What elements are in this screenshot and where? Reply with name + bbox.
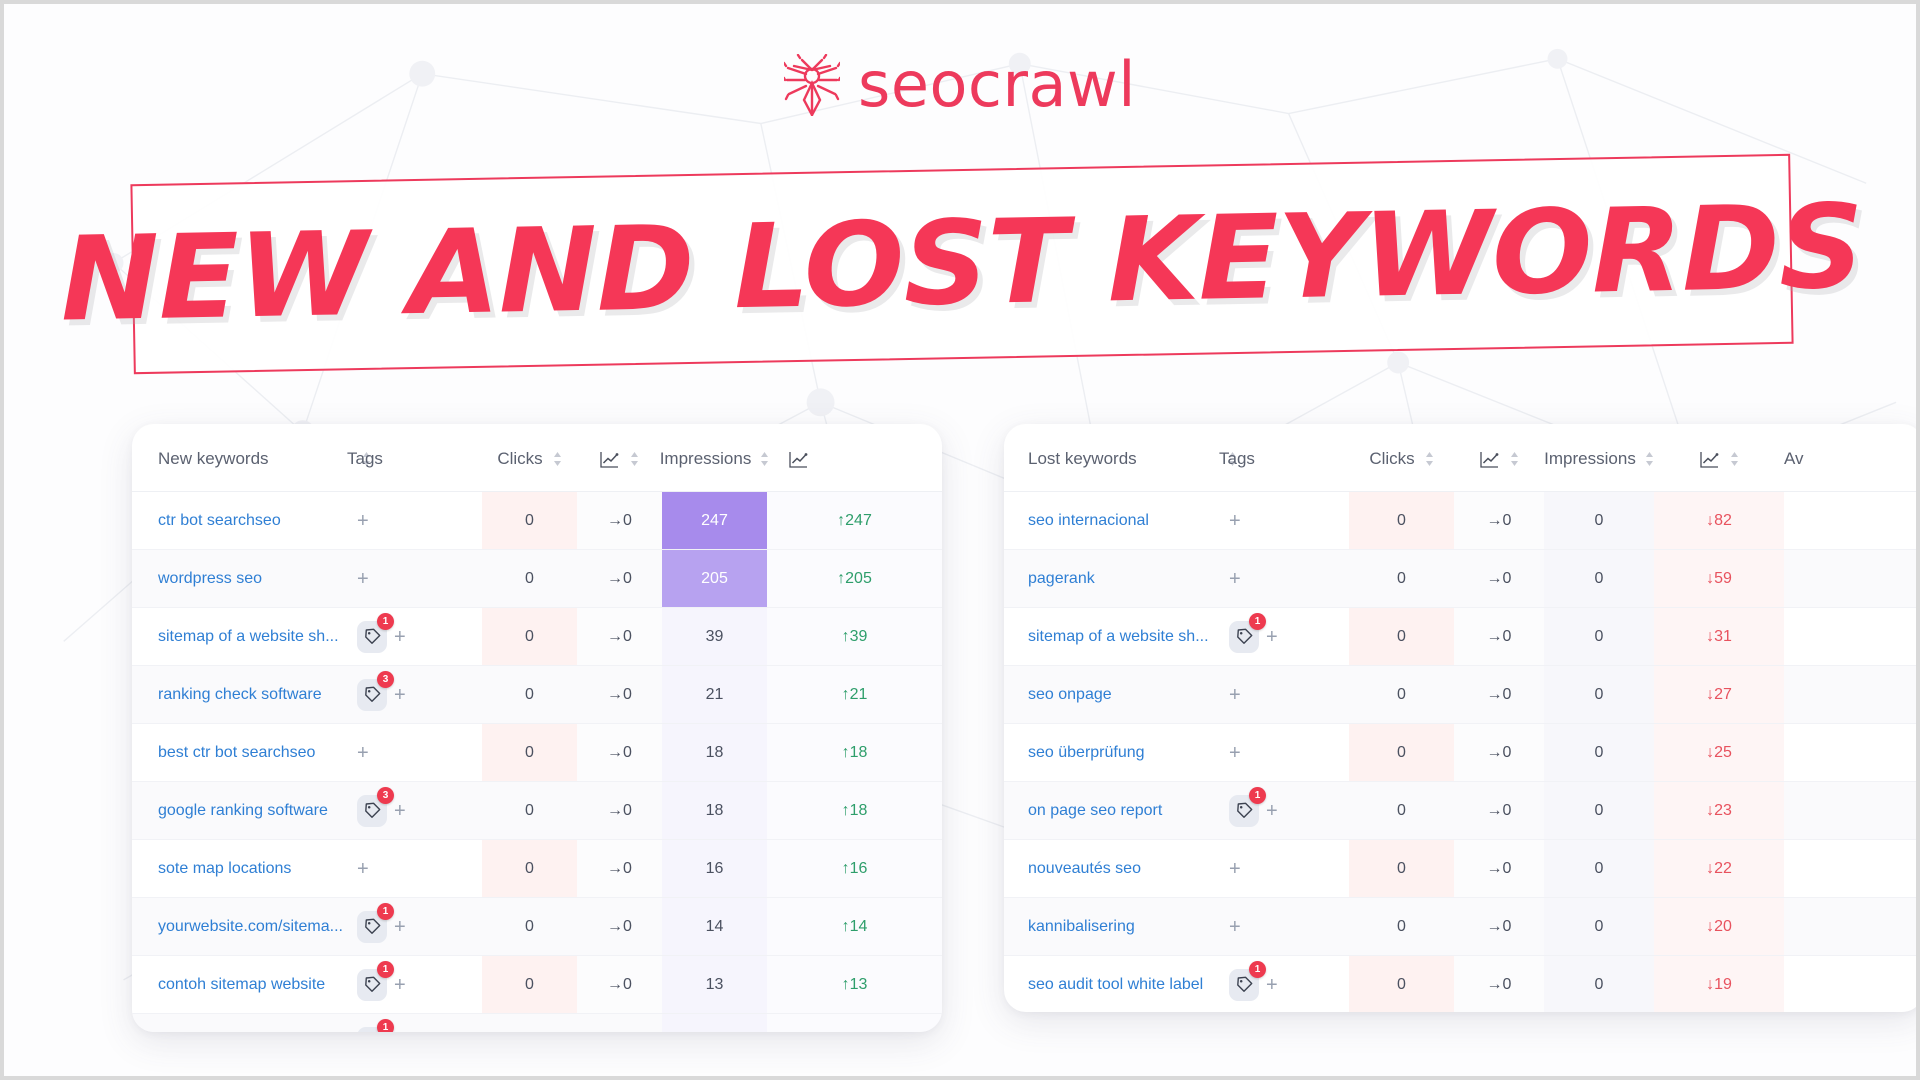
tags-cell: + — [1219, 840, 1349, 898]
col-header-lost-keywords[interactable]: Lost keywords — [1004, 424, 1219, 492]
add-tag-button[interactable]: + — [394, 917, 406, 937]
clicks-trend-value: →0 — [577, 666, 662, 724]
impressions-value: 0 — [1544, 956, 1654, 1013]
tags-cell: + — [1219, 898, 1349, 956]
tags-cell: 1+ — [347, 898, 482, 956]
col-header-clicks-trend[interactable] — [577, 424, 662, 492]
clicks-trend-value: →0 — [1454, 898, 1544, 956]
keyword-link[interactable]: seo überprüfung — [1004, 724, 1219, 782]
keyword-link[interactable]: sote map locations — [132, 840, 347, 898]
tag-chip[interactable]: 1 — [1229, 795, 1259, 827]
tag-chip[interactable]: 1 — [1229, 621, 1259, 653]
impressions-value: 18 — [662, 724, 767, 782]
tag-count-badge: 1 — [1249, 961, 1266, 978]
keyword-link[interactable]: pagerank — [1004, 550, 1219, 608]
clicks-value: 0 — [1349, 666, 1454, 724]
clicks-value: 0 — [482, 608, 577, 666]
impressions-trend-value: ↑14 — [767, 898, 942, 956]
clicks-trend-value: →0 — [577, 724, 662, 782]
table-row[interactable]: ctr bot searchseo+0→0247↑247 — [132, 492, 942, 550]
table-row[interactable]: kannibalisering+0→00↓20 — [1004, 898, 1920, 956]
clicks-value: 0 — [1349, 492, 1454, 550]
clicks-value: 0 — [1349, 956, 1454, 1013]
add-tag-button[interactable]: + — [1229, 685, 1241, 705]
impressions-value: 18 — [662, 782, 767, 840]
impressions-value: 247 — [662, 492, 767, 550]
sort-icon[interactable] — [1730, 451, 1739, 467]
impressions-value: 0 — [1544, 492, 1654, 550]
impressions-value: 0 — [1544, 608, 1654, 666]
clicks-value: 0 — [482, 956, 577, 1014]
table-row[interactable]: wordpress seo+0→0205↑205 — [132, 550, 942, 608]
sort-icon[interactable] — [1425, 451, 1434, 467]
add-tag-button[interactable]: + — [357, 511, 369, 531]
average-position-value — [1784, 550, 1920, 608]
add-tag-button[interactable]: + — [394, 627, 406, 647]
impressions-value: 205 — [662, 550, 767, 608]
table-row[interactable]: ranking check software3+0→021↑21 — [132, 666, 942, 724]
impressions-value: 0 — [1544, 550, 1654, 608]
impressions-trend-value: ↓20 — [1654, 898, 1784, 956]
table-row[interactable]: best ctr bot searchseo+0→018↑18 — [132, 724, 942, 782]
impressions-trend-value: ↑13 — [767, 956, 942, 1014]
page-frame: seocrawl NEW AND LOST KEYWORDS New keywo… — [0, 0, 1920, 1080]
clicks-trend-value: →0 — [1454, 550, 1544, 608]
table-header-row: New keywords Tags Clicks — [132, 424, 942, 492]
keyword-link[interactable]: ranking check software — [132, 666, 347, 724]
table-row[interactable]: pagerank+0→00↓59 — [1004, 550, 1920, 608]
clicks-value: 0 — [1349, 724, 1454, 782]
keyword-link[interactable]: seo audit tool white label — [1004, 956, 1219, 1013]
tags-cell: 3+ — [347, 782, 482, 840]
tags-cell: + — [1219, 492, 1349, 550]
brand-logo-text: seocrawl — [858, 54, 1136, 116]
clicks-trend-value: →0 — [577, 840, 662, 898]
impressions-value: 0 — [1544, 666, 1654, 724]
line-chart-icon — [789, 451, 808, 468]
impressions-value: 0 — [1544, 840, 1654, 898]
new-keywords-card: New keywords Tags Clicks — [132, 424, 942, 1032]
line-chart-icon — [1700, 451, 1719, 468]
impressions-trend-value: ↓19 — [1654, 956, 1784, 1013]
impressions-trend-value: ↓25 — [1654, 724, 1784, 782]
sort-icon[interactable] — [1510, 451, 1519, 467]
clicks-value: 0 — [482, 666, 577, 724]
keyword-link[interactable]: contoh sitemap website — [132, 956, 347, 1014]
table-row[interactable]: nouveautés seo+0→00↓22 — [1004, 840, 1920, 898]
tags-cell: 1+ — [1219, 956, 1349, 1013]
impressions-trend-value: ↓22 — [1654, 840, 1784, 898]
add-tag-button[interactable]: + — [357, 569, 369, 589]
impressions-trend-value: ↑247 — [767, 492, 942, 550]
impressions-value: 0 — [1544, 724, 1654, 782]
col-header-label: Clicks — [497, 449, 542, 469]
average-position-value — [1784, 608, 1920, 666]
tag-count-badge: 1 — [377, 961, 394, 978]
add-tag-button[interactable]: + — [394, 975, 406, 995]
sort-icon[interactable] — [553, 451, 562, 467]
clicks-trend-value: →0 — [1454, 608, 1544, 666]
table-row[interactable]: google ranking software3+0→018↑18 — [132, 782, 942, 840]
add-tag-button[interactable]: + — [1229, 511, 1241, 531]
keyword-link[interactable]: kannibalisering — [1004, 898, 1219, 956]
average-position-value — [1784, 666, 1920, 724]
keyword-link[interactable]: sitemap of a website sh... — [132, 608, 347, 666]
keyword-link[interactable]: why is google redirectin... — [132, 1014, 347, 1033]
tag-count-badge: 3 — [377, 787, 394, 804]
lost-keywords-table: Lost keywords Tags Clicks — [1004, 424, 1920, 1012]
col-header-label: Impressions — [1544, 449, 1636, 469]
clicks-trend-value: →0 — [1454, 492, 1544, 550]
impressions-trend-value: ↑39 — [767, 608, 942, 666]
add-tag-button[interactable]: + — [1229, 569, 1241, 589]
clicks-trend-value: →0 — [1454, 782, 1544, 840]
add-tag-button[interactable]: + — [1229, 859, 1241, 879]
tags-cell: + — [1219, 724, 1349, 782]
col-header-label: Lost keywords — [1028, 449, 1137, 469]
clicks-trend-value: →0 — [577, 492, 662, 550]
impressions-value: 21 — [662, 666, 767, 724]
tags-cell: + — [347, 724, 482, 782]
table-row[interactable]: seo überprüfung+0→00↓25 — [1004, 724, 1920, 782]
table-row[interactable]: yourwebsite.com/sitema...1+0→014↑14 — [132, 898, 942, 956]
tag-count-badge: 1 — [377, 903, 394, 920]
add-tag-button[interactable]: + — [357, 859, 369, 879]
col-header-impressions-trend[interactable] — [767, 424, 942, 492]
line-chart-icon — [1480, 451, 1499, 468]
impressions-value: 12 — [662, 1014, 767, 1033]
tag-chip[interactable]: 1 — [357, 621, 387, 653]
table-row[interactable]: why is google redirectin...1+0→012↑12 — [132, 1014, 942, 1033]
clicks-value: 0 — [482, 550, 577, 608]
tags-cell: + — [347, 550, 482, 608]
keyword-link[interactable]: nouveautés seo — [1004, 840, 1219, 898]
tag-chip[interactable]: 1 — [357, 969, 387, 1001]
page-title-banner: NEW AND LOST KEYWORDS — [130, 154, 1793, 374]
keyword-link[interactable]: ctr bot searchseo — [132, 492, 347, 550]
add-tag-button[interactable]: + — [394, 801, 406, 821]
impressions-trend-value: ↓27 — [1654, 666, 1784, 724]
clicks-trend-value: →0 — [577, 898, 662, 956]
new-keywords-table-body: ctr bot searchseo+0→0247↑247wordpress se… — [132, 492, 942, 1033]
col-header-label: Tags — [1219, 449, 1255, 469]
impressions-trend-value: ↑205 — [767, 550, 942, 608]
tag-chip[interactable]: 1 — [1229, 969, 1259, 1001]
table-header-row: Lost keywords Tags Clicks — [1004, 424, 1920, 492]
clicks-trend-value: →0 — [1454, 666, 1544, 724]
tag-count-badge: 1 — [1249, 613, 1266, 630]
table-row[interactable]: seo onpage+0→00↓27 — [1004, 666, 1920, 724]
clicks-value: 0 — [482, 898, 577, 956]
tags-cell: 1+ — [1219, 608, 1349, 666]
lost-keywords-table-head: Lost keywords Tags Clicks — [1004, 424, 1920, 492]
sort-icon[interactable] — [760, 451, 769, 467]
keyword-link[interactable]: google ranking software — [132, 782, 347, 840]
average-position-value — [1784, 724, 1920, 782]
tag-count-badge: 3 — [377, 671, 394, 688]
add-tag-button[interactable]: + — [1229, 917, 1241, 937]
tag-chip[interactable]: 1 — [357, 1027, 387, 1033]
tags-cell: + — [1219, 666, 1349, 724]
keyword-link[interactable]: best ctr bot searchseo — [132, 724, 347, 782]
impressions-value: 14 — [662, 898, 767, 956]
clicks-value: 0 — [482, 492, 577, 550]
impressions-value: 39 — [662, 608, 767, 666]
keyword-link[interactable]: wordpress seo — [132, 550, 347, 608]
brand-logo: seocrawl — [4, 54, 1916, 116]
new-keywords-table: New keywords Tags Clicks — [132, 424, 942, 1032]
clicks-value: 0 — [1349, 898, 1454, 956]
col-header-tags[interactable]: Tags — [347, 424, 482, 492]
tag-count-badge: 1 — [377, 1019, 394, 1033]
average-position-value — [1784, 840, 1920, 898]
tag-chip[interactable]: 1 — [357, 911, 387, 943]
impressions-trend-value: ↑16 — [767, 840, 942, 898]
impressions-value: 0 — [1544, 898, 1654, 956]
impressions-trend-value: ↑18 — [767, 724, 942, 782]
add-tag-button[interactable]: + — [1266, 801, 1278, 821]
clicks-trend-value: →0 — [577, 608, 662, 666]
clicks-trend-value: →0 — [577, 1014, 662, 1033]
sort-icon[interactable] — [630, 451, 639, 467]
add-tag-button[interactable]: + — [1266, 975, 1278, 995]
clicks-trend-value: →0 — [1454, 724, 1544, 782]
clicks-trend-value: →0 — [1454, 840, 1544, 898]
table-row[interactable]: on page seo report1+0→00↓23 — [1004, 782, 1920, 840]
table-row[interactable]: sote map locations+0→016↑16 — [132, 840, 942, 898]
col-header-impressions-trend[interactable] — [1654, 424, 1784, 492]
clicks-value: 0 — [1349, 550, 1454, 608]
average-position-value — [1784, 782, 1920, 840]
tags-cell: + — [347, 492, 482, 550]
lost-keywords-card: Lost keywords Tags Clicks — [1004, 424, 1920, 1012]
average-position-value — [1784, 956, 1920, 1013]
clicks-value: 0 — [482, 724, 577, 782]
keyword-link[interactable]: yourwebsite.com/sitema... — [132, 898, 347, 956]
new-keywords-table-head: New keywords Tags Clicks — [132, 424, 942, 492]
clicks-trend-value: →0 — [577, 550, 662, 608]
clicks-trend-value: →0 — [1454, 956, 1544, 1013]
lost-keywords-table-body: seo internacional+0→00↓82pagerank+0→00↓5… — [1004, 492, 1920, 1013]
tags-cell: 3+ — [347, 666, 482, 724]
tag-chip[interactable]: 3 — [357, 795, 387, 827]
tags-cell: 1+ — [1219, 782, 1349, 840]
clicks-value: 0 — [1349, 608, 1454, 666]
impressions-trend-value: ↑18 — [767, 782, 942, 840]
col-header-new-keywords[interactable]: New keywords — [132, 424, 347, 492]
tags-cell: 1+ — [347, 956, 482, 1014]
page-title: NEW AND LOST KEYWORDS — [60, 189, 1865, 338]
impressions-trend-value: ↓82 — [1654, 492, 1784, 550]
tags-cell: + — [347, 840, 482, 898]
col-header-clicks[interactable]: Clicks — [1349, 424, 1454, 492]
col-header-label: Impressions — [660, 449, 752, 469]
impressions-trend-value: ↓23 — [1654, 782, 1784, 840]
col-header-clicks[interactable]: Clicks — [482, 424, 577, 492]
col-header-clicks-trend[interactable] — [1454, 424, 1544, 492]
clicks-value: 0 — [482, 1014, 577, 1033]
tag-count-badge: 1 — [1249, 787, 1266, 804]
keyword-link[interactable]: sitemap of a website sh... — [1004, 608, 1219, 666]
col-header-tags[interactable]: Tags — [1219, 424, 1349, 492]
impressions-value: 16 — [662, 840, 767, 898]
sort-icon[interactable] — [1645, 451, 1654, 467]
add-tag-button[interactable]: + — [1266, 627, 1278, 647]
tags-cell: 1+ — [347, 1014, 482, 1033]
clicks-value: 0 — [1349, 840, 1454, 898]
spider-icon — [784, 54, 840, 116]
col-header-average-position[interactable]: Av — [1784, 424, 1920, 492]
keyword-link[interactable]: seo internacional — [1004, 492, 1219, 550]
table-row[interactable]: sitemap of a website sh...1+0→00↓31 — [1004, 608, 1920, 666]
impressions-trend-value: ↓59 — [1654, 550, 1784, 608]
clicks-value: 0 — [482, 782, 577, 840]
table-row[interactable]: seo audit tool white label1+0→00↓19 — [1004, 956, 1920, 1013]
col-header-impressions[interactable]: Impressions — [662, 424, 767, 492]
table-row[interactable]: sitemap of a website sh...1+0→039↑39 — [132, 608, 942, 666]
add-tag-button[interactable]: + — [394, 685, 406, 705]
clicks-trend-value: →0 — [577, 782, 662, 840]
impressions-trend-value: ↑21 — [767, 666, 942, 724]
keyword-link[interactable]: seo onpage — [1004, 666, 1219, 724]
col-header-impressions[interactable]: Impressions — [1544, 424, 1654, 492]
keyword-link[interactable]: on page seo report — [1004, 782, 1219, 840]
col-header-label: Tags — [347, 449, 383, 469]
average-position-value — [1784, 492, 1920, 550]
clicks-value: 0 — [1349, 782, 1454, 840]
line-chart-icon — [600, 451, 619, 468]
impressions-value: 13 — [662, 956, 767, 1014]
tags-cell: 1+ — [347, 608, 482, 666]
tag-count-badge: 1 — [377, 613, 394, 630]
col-header-label: New keywords — [158, 449, 269, 469]
average-position-value — [1784, 898, 1920, 956]
impressions-trend-value: ↑12 — [767, 1014, 942, 1033]
tag-chip[interactable]: 3 — [357, 679, 387, 711]
tags-cell: + — [1219, 550, 1349, 608]
add-tag-button[interactable]: + — [357, 743, 369, 763]
impressions-value: 0 — [1544, 782, 1654, 840]
clicks-value: 0 — [482, 840, 577, 898]
impressions-trend-value: ↓31 — [1654, 608, 1784, 666]
table-row[interactable]: contoh sitemap website1+0→013↑13 — [132, 956, 942, 1014]
col-header-label: Av — [1784, 449, 1804, 469]
clicks-trend-value: →0 — [577, 956, 662, 1014]
table-row[interactable]: seo internacional+0→00↓82 — [1004, 492, 1920, 550]
col-header-label: Clicks — [1369, 449, 1414, 469]
add-tag-button[interactable]: + — [1229, 743, 1241, 763]
